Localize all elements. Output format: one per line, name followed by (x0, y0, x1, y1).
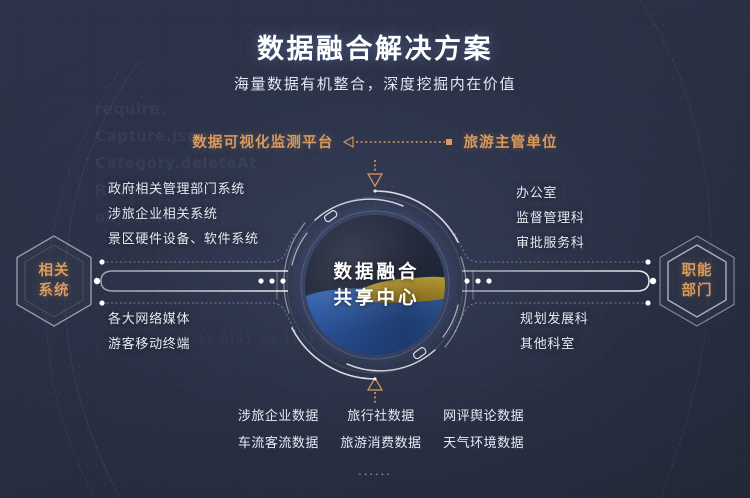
list-item: 各大网络媒体 (108, 306, 190, 331)
right-bottom-item-list: 规划发展科 其他科室 (520, 306, 589, 356)
list-item: 景区硬件设备、软件系统 (108, 226, 259, 251)
list-item: 涉旅企业数据 (231, 405, 326, 424)
list-item: 监督管理科 (516, 205, 585, 230)
left-bottom-item-list: 各大网络媒体 游客移动终端 (108, 306, 190, 356)
list-item: 旅游消费数据 (334, 432, 429, 451)
list-item: 政府相关管理部门系统 (108, 176, 259, 201)
left-top-item-list: 政府相关管理部门系统 涉旅企业相关系统 景区硬件设备、软件系统 (108, 176, 259, 251)
hex-right-line1: 职能 (682, 261, 713, 281)
infographic-canvas: require. Capture.json Category.deleteAt … (0, 0, 750, 498)
list-item: 办公室 (516, 180, 585, 205)
list-item: 旅行社数据 (334, 405, 429, 424)
list-item: 审批服务科 (516, 230, 585, 255)
functional-departments-hexagon-label: 职能 部门 (655, 233, 739, 329)
list-item: 规划发展科 (520, 306, 589, 331)
right-top-item-list: 办公室 监督管理科 审批服务科 (516, 180, 585, 255)
hex-right-line2: 部门 (682, 281, 713, 301)
center-label: 数据融合 共享中心 (275, 185, 475, 385)
list-item: 车流客流数据 (231, 432, 326, 451)
data-fusion-center-graphic[interactable]: 数据融合 共享中心 (275, 185, 475, 385)
center-line2: 共享中心 (330, 285, 419, 311)
functional-departments-hexagon[interactable]: 职能 部门 (655, 233, 739, 329)
hex-left-line2: 系统 (39, 281, 70, 301)
related-systems-hexagon[interactable]: 相关 系统 (12, 233, 96, 329)
list-item: 天气环境数据 (436, 432, 531, 451)
list-item: 其他科室 (520, 331, 589, 356)
center-line1: 数据融合 (330, 259, 419, 285)
list-item: 涉旅企业相关系统 (108, 201, 259, 226)
list-item: 游客移动终端 (108, 331, 190, 356)
related-systems-hexagon-label: 相关 系统 (12, 233, 96, 329)
list-item: 网评舆论数据 (436, 405, 531, 424)
bottom-ellipsis: ...... (0, 463, 750, 478)
hex-left-line1: 相关 (39, 261, 70, 281)
bottom-data-source-grid: 涉旅企业数据 旅行社数据 网评舆论数据 车流客流数据 旅游消费数据 天气环境数据 (231, 405, 531, 451)
